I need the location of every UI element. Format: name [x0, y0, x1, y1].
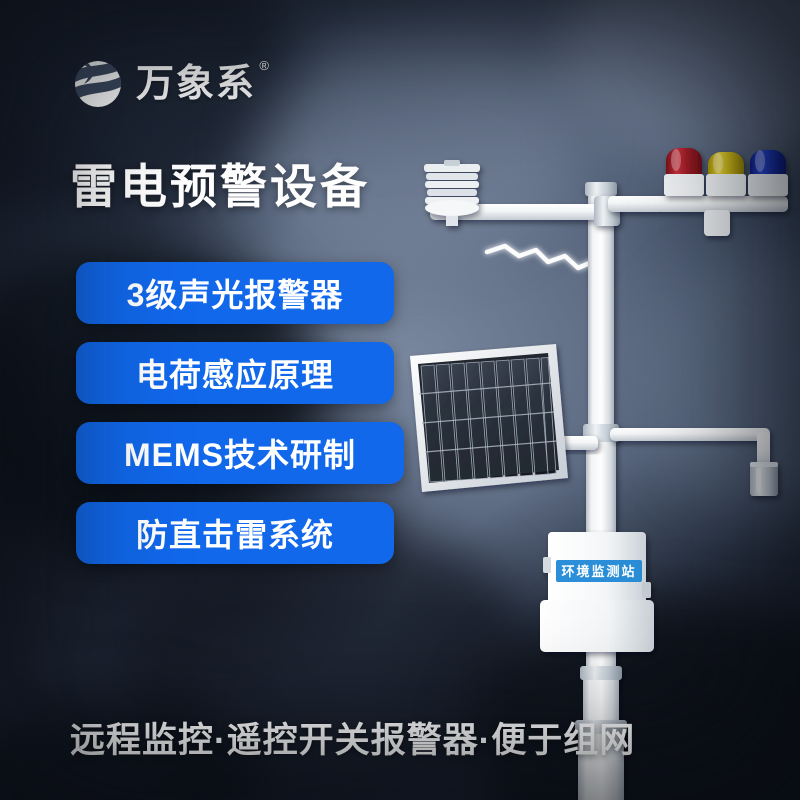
- storm-cloud: [560, 0, 800, 170]
- globe-swoosh-logo: [72, 58, 124, 110]
- control-box-label: 环境监测站: [561, 564, 636, 579]
- tagline: 远程监控·遥控开关报警器·便于组网: [70, 712, 635, 763]
- page-title: 雷电预警设备: [70, 163, 370, 210]
- registered-trademark-icon: ®: [259, 59, 271, 72]
- brand-name: 万象系 ®: [136, 65, 256, 103]
- control-box: 环境监测站: [540, 532, 654, 652]
- red-alarm-beacon: [664, 148, 704, 196]
- promo-poster: 环境监测站 万象系 ® 雷电预警设备 3级声光报警器 电荷感应原理 MEMS技术…: [0, 0, 800, 800]
- rain-gauge-arm: [610, 428, 770, 472]
- feature-badge-3[interactable]: MEMS技术研制: [76, 422, 404, 484]
- rain-gauge-sensor: [750, 462, 778, 496]
- feature-badge-4[interactable]: 防直击雷系统: [76, 502, 394, 564]
- yellow-alarm-beacon: [706, 152, 746, 196]
- brand-lockup: 万象系 ®: [72, 58, 256, 110]
- blue-alarm-beacon: [748, 150, 788, 196]
- feature-badge-list: 3级声光报警器 电荷感应原理 MEMS技术研制 防直击雷系统: [76, 262, 404, 564]
- brand-name-text: 万象系: [136, 63, 256, 105]
- beacon-bracket: [608, 196, 788, 236]
- lightning-bolt: [487, 246, 600, 272]
- mounting-pole: [575, 182, 627, 800]
- feature-badge-2[interactable]: 电荷感应原理: [76, 342, 394, 404]
- storm-cloud: [250, 40, 580, 260]
- feature-badge-1[interactable]: 3级声光报警器: [76, 262, 394, 324]
- solar-panel: [410, 344, 568, 492]
